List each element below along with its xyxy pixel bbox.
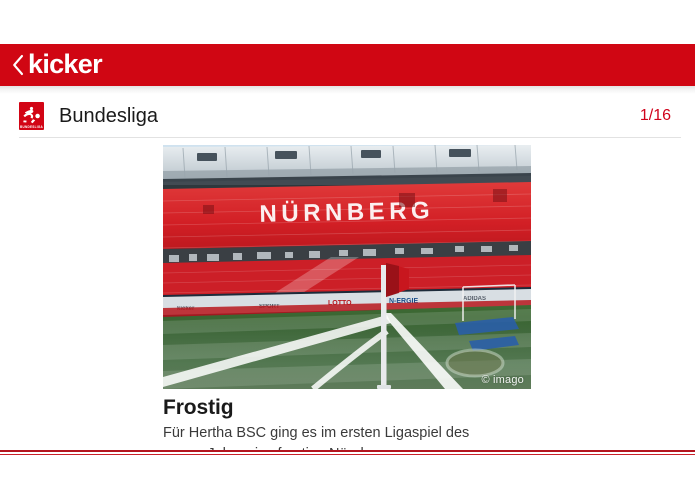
article-teaser: Für Hertha BSC ging es im ersten Ligaspi… [163, 423, 508, 452]
header-shadow [0, 86, 695, 94]
league-divider [19, 137, 681, 138]
footer-area [0, 455, 695, 494]
league-bar-left: BUNDESLIGA Bundesliga [19, 102, 640, 130]
league-title: Bundesliga [59, 106, 158, 126]
bundesliga-logo-wordmark: BUNDESLIGA [19, 124, 44, 128]
content-card: BUNDESLIGA Bundesliga 1/16 [0, 94, 695, 452]
article-photo[interactable]: NÜRNBERG [163, 145, 531, 389]
app-header: kicker [0, 44, 695, 86]
top-gutter [0, 0, 695, 44]
brand-wordmark[interactable]: kicker [28, 51, 102, 78]
article-headline[interactable]: Frostig [163, 396, 695, 420]
app-screen: kicker BUND [0, 0, 695, 494]
gallery-counter: 1/16 [640, 108, 671, 124]
bundesliga-logo-icon: BUNDESLIGA [19, 102, 44, 130]
chevron-left-icon[interactable] [11, 54, 25, 76]
league-bar[interactable]: BUNDESLIGA Bundesliga 1/16 [19, 94, 671, 137]
article: NÜRNBERG [0, 145, 695, 452]
photo-watermark: © imago [481, 375, 524, 386]
